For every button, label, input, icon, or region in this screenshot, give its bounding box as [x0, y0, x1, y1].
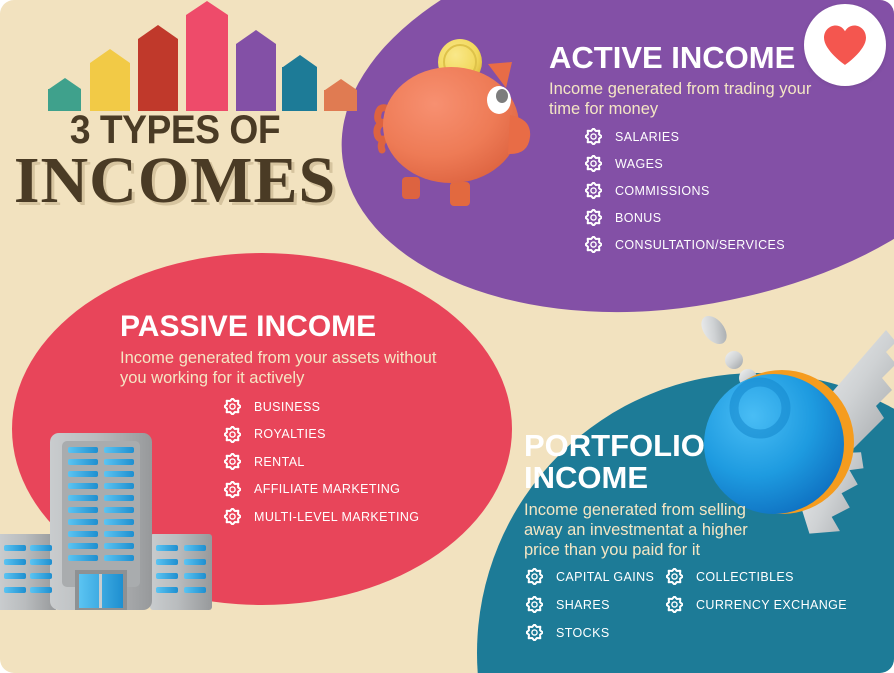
- passive-income-title: PASSIVE INCOME: [120, 312, 500, 343]
- gear-bullet-icon: [585, 128, 602, 145]
- gear-bullet-icon: [224, 398, 241, 415]
- house-bar-7: [324, 79, 357, 111]
- active-income-item-label: SALARIES: [615, 130, 679, 144]
- office-building-illustration: [0, 415, 230, 620]
- gear-bullet-icon: [224, 508, 241, 525]
- section-passive-income: PASSIVE INCOME Income generated from you…: [120, 312, 500, 388]
- portfolio-income-title-line1: PORTFOLIO: [524, 430, 884, 462]
- infographic-canvas: 3 TYPES OF INCOMES: [0, 0, 894, 673]
- portfolio-income-title-line2: INCOME: [524, 462, 884, 494]
- gear-bullet-icon: [666, 596, 683, 613]
- passive-income-item[interactable]: ROYALTIES: [224, 426, 419, 443]
- passive-income-item-label: BUSINESS: [254, 400, 320, 414]
- active-income-item[interactable]: COMMISSIONS: [585, 182, 785, 199]
- active-income-item[interactable]: CONSULTATION/SERVICES: [585, 236, 785, 253]
- house-bar-chart: [48, 15, 308, 111]
- section-active-income: ACTIVE INCOME Income generated from trad…: [549, 42, 889, 119]
- gear-bullet-icon: [526, 596, 543, 613]
- passive-income-item[interactable]: MULTI-LEVEL MARKETING: [224, 508, 419, 525]
- portfolio-income-item-label: STOCKS: [556, 626, 610, 640]
- page-title: INCOMES: [0, 148, 350, 214]
- passive-income-item-label: MULTI-LEVEL MARKETING: [254, 510, 419, 524]
- portfolio-income-list-column-2: COLLECTIBLESCURRENCY EXCHANGE: [666, 568, 876, 652]
- gear-bullet-icon: [224, 453, 241, 470]
- house-bar-roof: [236, 30, 276, 44]
- portfolio-income-item[interactable]: CURRENCY EXCHANGE: [666, 596, 876, 613]
- house-bar-roof: [283, 55, 317, 67]
- passive-income-item-label: AFFILIATE MARKETING: [254, 482, 400, 496]
- house-bar-3: [138, 25, 178, 111]
- passive-income-item[interactable]: BUSINESS: [224, 398, 419, 415]
- house-bar-4: [186, 1, 228, 111]
- portfolio-income-list: CAPITAL GAINSSHARESSTOCKS COLLECTIBLESCU…: [526, 568, 876, 652]
- gear-bullet-icon: [526, 624, 543, 641]
- gear-bullet-icon: [224, 426, 241, 443]
- house-bar-body: [236, 44, 276, 111]
- house-bar-roof: [138, 25, 178, 39]
- house-bar-6: [282, 55, 317, 111]
- active-income-item-label: CONSULTATION/SERVICES: [615, 238, 785, 252]
- portfolio-income-item-label: COLLECTIBLES: [696, 570, 794, 584]
- active-income-title: ACTIVE INCOME: [549, 42, 889, 74]
- house-bar-5: [236, 30, 276, 111]
- section-portfolio-income: PORTFOLIO INCOME Income generated from s…: [524, 430, 884, 561]
- house-bar-1: [48, 78, 81, 111]
- house-bar-body: [282, 67, 317, 111]
- portfolio-income-item[interactable]: STOCKS: [526, 624, 666, 641]
- passive-income-item-label: ROYALTIES: [254, 427, 326, 441]
- house-bar-2: [90, 49, 130, 111]
- portfolio-income-item[interactable]: COLLECTIBLES: [666, 568, 876, 585]
- house-bar-body: [138, 39, 178, 111]
- gear-bullet-icon: [585, 209, 602, 226]
- gear-bullet-icon: [666, 568, 683, 585]
- active-income-item-label: WAGES: [615, 157, 663, 171]
- portfolio-income-subtitle: Income generated from selling away an in…: [524, 500, 764, 560]
- house-bar-roof: [49, 78, 81, 89]
- portfolio-income-item-label: SHARES: [556, 598, 610, 612]
- gear-bullet-icon: [585, 155, 602, 172]
- active-income-item-label: COMMISSIONS: [615, 184, 710, 198]
- passive-income-item[interactable]: RENTAL: [224, 453, 419, 470]
- active-income-list: SALARIESWAGESCOMMISSIONSBONUSCONSULTATIO…: [585, 128, 785, 263]
- piggy-bank-illustration: [358, 22, 558, 222]
- portfolio-income-item-label: CAPITAL GAINS: [556, 570, 654, 584]
- gear-bullet-icon: [585, 182, 602, 199]
- house-bar-roof: [325, 79, 357, 90]
- house-bar-roof: [90, 49, 130, 63]
- portfolio-income-item-label: CURRENCY EXCHANGE: [696, 598, 847, 612]
- gear-bullet-icon: [585, 236, 602, 253]
- house-bar-roof: [186, 1, 228, 15]
- house-bar-body: [90, 63, 130, 111]
- passive-income-subtitle: Income generated from your assets withou…: [120, 348, 450, 388]
- portfolio-income-item[interactable]: SHARES: [526, 596, 666, 613]
- portfolio-income-list-column-1: CAPITAL GAINSSHARESSTOCKS: [526, 568, 666, 652]
- active-income-item[interactable]: WAGES: [585, 155, 785, 172]
- header-block: 3 TYPES OF INCOMES: [0, 8, 350, 223]
- passive-income-item[interactable]: AFFILIATE MARKETING: [224, 481, 419, 498]
- portfolio-income-item[interactable]: CAPITAL GAINS: [526, 568, 666, 585]
- gear-bullet-icon: [224, 481, 241, 498]
- gear-bullet-icon: [526, 568, 543, 585]
- active-income-item-label: BONUS: [615, 211, 661, 225]
- active-income-item[interactable]: SALARIES: [585, 128, 785, 145]
- passive-income-list: BUSINESSROYALTIESRENTALAFFILIATE MARKETI…: [224, 398, 419, 536]
- active-income-item[interactable]: BONUS: [585, 209, 785, 226]
- passive-income-item-label: RENTAL: [254, 455, 305, 469]
- active-income-subtitle: Income generated from trading your time …: [549, 79, 827, 119]
- house-bar-body: [186, 15, 228, 111]
